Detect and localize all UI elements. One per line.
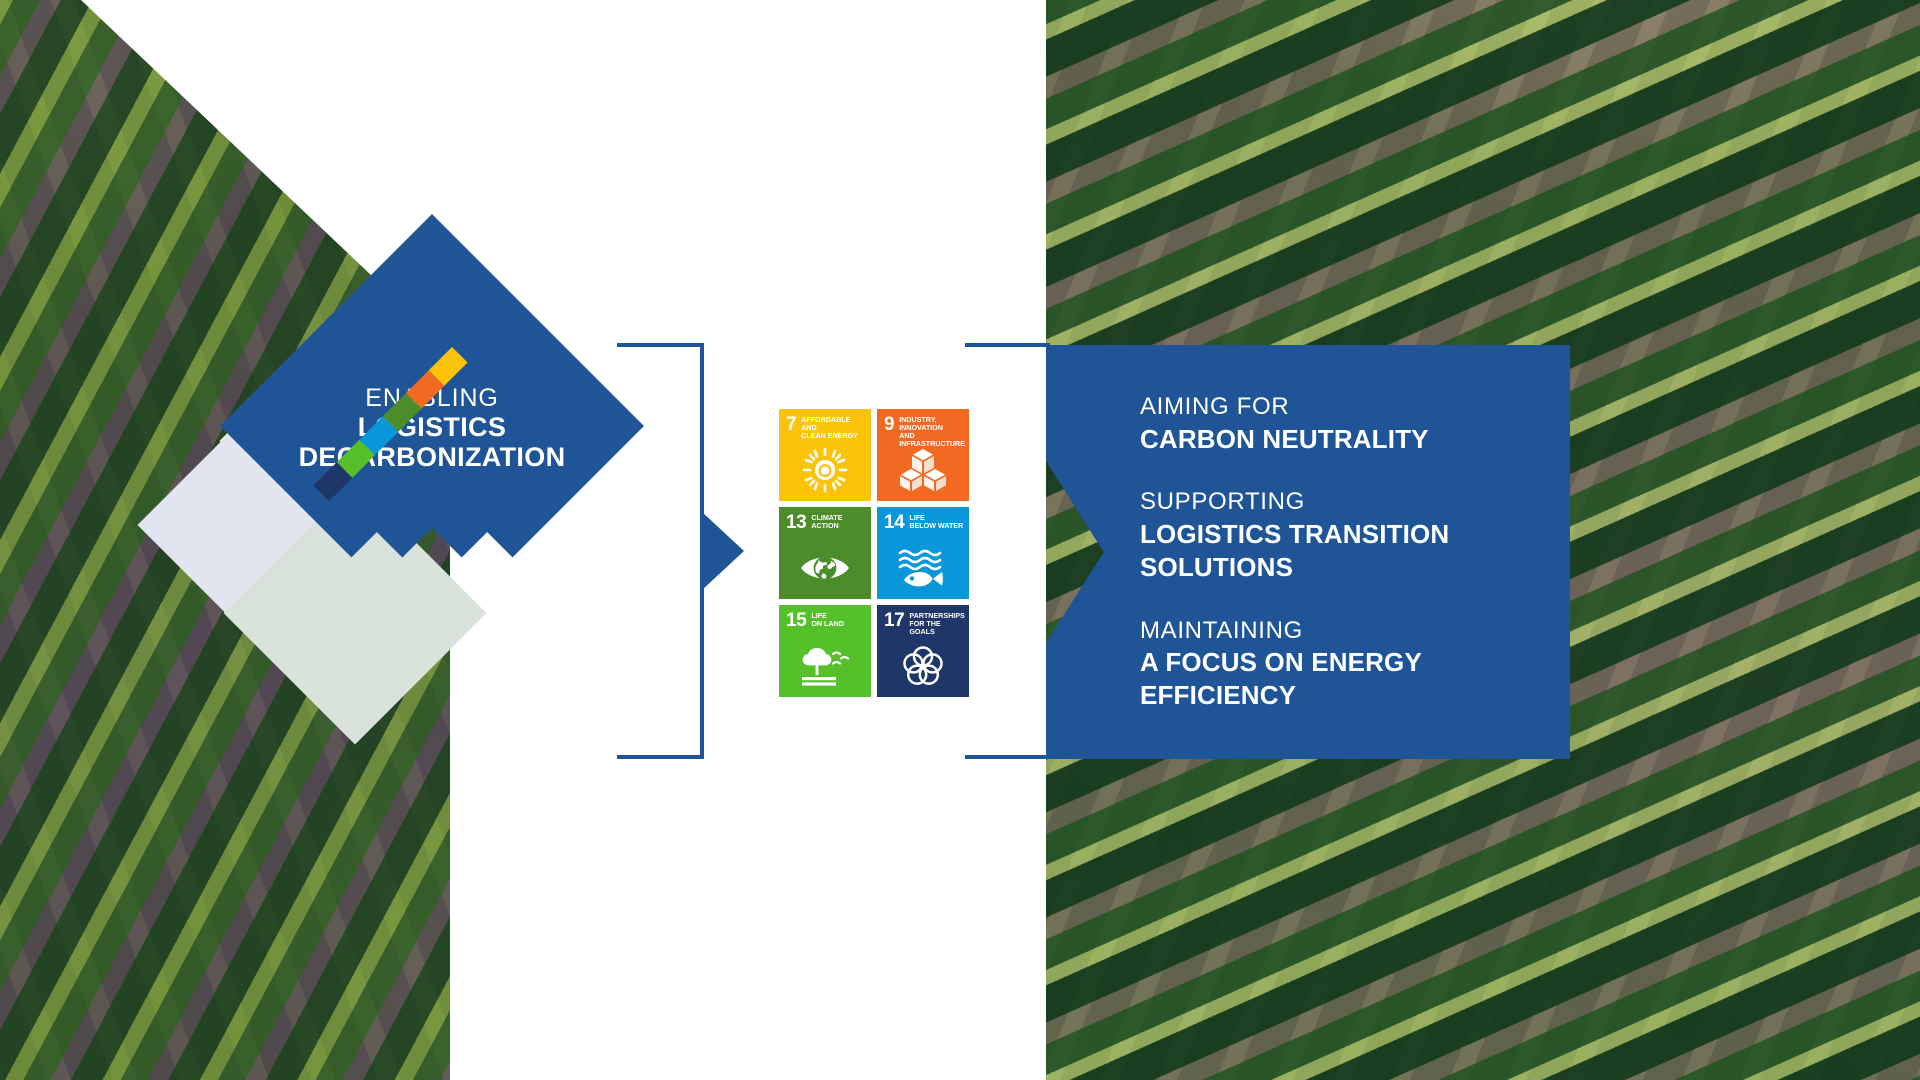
- commitment-item: MAINTAININGA FOCUS ON ENERGY EFFICIENCY: [1140, 616, 1500, 712]
- sdg-title: LIFEBELOW WATER: [909, 514, 963, 530]
- sdg-title-line-1: INDUSTRY, INNOVATION: [899, 416, 965, 432]
- sdg-tile-17[interactable]: 17PARTNERSHIPSFOR THE GOALS: [877, 605, 969, 697]
- sdg-title-line-2: CLEAN ENERGY: [801, 432, 866, 440]
- sdg-number: 13: [786, 514, 806, 531]
- sdg-title: PARTNERSHIPSFOR THE GOALS: [909, 612, 964, 636]
- sdg-title-line-2: ACTION: [811, 522, 842, 530]
- commitment-headline: CARBON NEUTRALITY: [1140, 423, 1500, 456]
- interlocking-circles-icon: [877, 641, 969, 691]
- fish-waves-icon: [877, 543, 969, 593]
- commitment-item: AIMING FORCARBON NEUTRALITY: [1140, 392, 1500, 455]
- stacked-cubes-icon: [877, 445, 969, 495]
- sdg-title-line-2: ON LAND: [811, 620, 844, 628]
- hero-diamond-shape: [220, 214, 644, 638]
- sdg-title-line-1: AFFORDABLE AND: [801, 416, 866, 432]
- commitment-lead: SUPPORTING: [1140, 487, 1500, 518]
- commitment-headline: LOGISTICS TRANSITION SOLUTIONS: [1140, 518, 1500, 584]
- sdg-title: LIFEON LAND: [811, 612, 844, 628]
- sdg-tile-13[interactable]: 13CLIMATEACTION: [779, 507, 871, 599]
- hero-diamond-badge: ENABLING LOGISTICS DECARBONIZATION: [282, 276, 582, 576]
- sdg-title: AFFORDABLE ANDCLEAN ENERGY: [801, 416, 866, 440]
- infographic-slide: ENABLING LOGISTICS DECARBONIZATION 7AFFO…: [0, 0, 1920, 1080]
- sdg-tile-header: 15LIFEON LAND: [786, 612, 866, 629]
- tree-birds-icon: [779, 641, 871, 691]
- sdg-number: 17: [884, 612, 904, 629]
- bracket-right-bottom-line: [965, 755, 1050, 759]
- sdg-tile-15[interactable]: 15LIFEON LAND: [779, 605, 871, 697]
- sdg-tile-header: 9INDUSTRY, INNOVATIONAND INFRASTRUCTURE: [884, 416, 964, 448]
- sun-power-icon: [779, 445, 871, 495]
- sdg-goal-grid: 7AFFORDABLE ANDCLEAN ENERGY: [779, 409, 969, 697]
- sdg-number: 15: [786, 612, 806, 629]
- sdg-title: CLIMATEACTION: [811, 514, 842, 530]
- eye-globe-icon: [779, 543, 871, 593]
- sdg-tile-7[interactable]: 7AFFORDABLE ANDCLEAN ENERGY: [779, 409, 871, 501]
- sdg-title-line-2: BELOW WATER: [909, 522, 963, 530]
- sdg-title: INDUSTRY, INNOVATIONAND INFRASTRUCTURE: [899, 416, 965, 448]
- sdg-number: 9: [884, 416, 894, 433]
- bracket-left-top-line: [617, 343, 704, 347]
- commitment-lead: AIMING FOR: [1140, 392, 1500, 423]
- commitment-headline: A FOCUS ON ENERGY EFFICIENCY: [1140, 646, 1500, 712]
- commitments-list: AIMING FORCARBON NEUTRALITYSUPPORTINGLOG…: [1140, 392, 1500, 712]
- commitment-item: SUPPORTINGLOGISTICS TRANSITION SOLUTIONS: [1140, 487, 1500, 583]
- sdg-tile-header: 14LIFEBELOW WATER: [884, 514, 964, 531]
- sdg-tile-header: 17PARTNERSHIPSFOR THE GOALS: [884, 612, 964, 636]
- sdg-number: 7: [786, 416, 796, 433]
- sdg-tile-header: 13CLIMATEACTION: [786, 514, 866, 531]
- bracket-right-top-line: [965, 343, 1050, 347]
- sdg-tile-14[interactable]: 14LIFEBELOW WATER: [877, 507, 969, 599]
- commitment-lead: MAINTAINING: [1140, 616, 1500, 647]
- bracket-left-bottom-line: [617, 755, 704, 759]
- sdg-tile-header: 7AFFORDABLE ANDCLEAN ENERGY: [786, 416, 866, 440]
- sdg-number: 14: [884, 514, 904, 531]
- sdg-tile-9[interactable]: 9INDUSTRY, INNOVATIONAND INFRASTRUCTURE: [877, 409, 969, 501]
- sdg-title-line-2: FOR THE GOALS: [909, 620, 964, 636]
